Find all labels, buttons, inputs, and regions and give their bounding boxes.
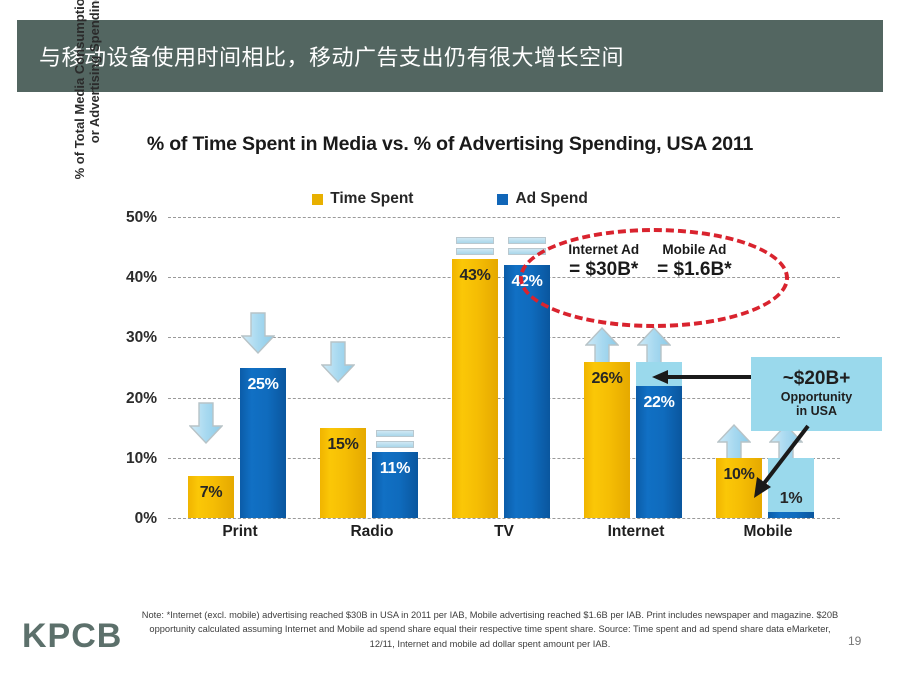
legend-item-time-spent: Time Spent <box>312 190 413 208</box>
legend-swatch-icon <box>497 194 508 205</box>
internet-ad-figure: Internet Ad = $30B* <box>568 243 639 280</box>
y-tick-label: 20% <box>126 390 157 408</box>
bar-print-time-spent: 7% <box>188 476 234 518</box>
slide: 与移动设备使用时间相比，移动广告支出仍有很大增长空间 % of Time Spe… <box>0 0 900 695</box>
y-tick-label: 50% <box>126 209 157 227</box>
bar-value-label: 15% <box>320 436 366 454</box>
bar-value-label: 43% <box>452 267 498 285</box>
mobile-ad-figure: Mobile Ad = $1.6B* <box>657 243 731 280</box>
y-axis-title: % of Total Media Consumption Time or Adv… <box>72 0 92 218</box>
y-tick-label: 40% <box>126 269 157 287</box>
down-arrow-icon <box>321 341 355 383</box>
legend-label: Time Spent <box>330 190 413 208</box>
ellipse-annotation-text: Internet Ad = $30B* Mobile Ad = $1.6B* <box>519 243 781 280</box>
internet-ad-value: = $30B* <box>568 260 639 280</box>
footnote: Note: *Internet (excl. mobile) advertisi… <box>140 608 840 651</box>
bar-value-label: 26% <box>584 370 630 388</box>
bar-value-label: 11% <box>372 460 418 478</box>
equals-marker-icon <box>376 430 414 452</box>
bar-value-label: 22% <box>636 394 682 412</box>
legend-swatch-icon <box>312 194 323 205</box>
internet-ad-label: Internet Ad <box>568 242 639 257</box>
bar-print-ad-spend: 25% <box>240 368 286 519</box>
header-banner: 与移动设备使用时间相比，移动广告支出仍有很大增长空间 <box>17 20 883 92</box>
down-arrow-icon <box>241 312 275 354</box>
chart-legend: Time Spent Ad Spend <box>0 190 900 208</box>
page-number: 19 <box>848 634 861 648</box>
mobile-ad-label: Mobile Ad <box>662 242 726 257</box>
callout-line3: in USA <box>796 404 837 418</box>
bar-mobile-ad-spend <box>768 512 814 518</box>
legend-item-ad-spend: Ad Spend <box>497 190 587 208</box>
bar-value-label: 7% <box>188 484 234 502</box>
y-axis-title-line1: % of Total Media Consumption Time <box>72 0 87 218</box>
callout-line2: Opportunity <box>781 390 853 404</box>
category-label-tv: TV <box>448 523 560 541</box>
bar-group-print: 7% 25% Print <box>184 217 296 518</box>
slide-title: 与移动设备使用时间相比，移动广告支出仍有很大增长空间 <box>17 40 624 72</box>
pointer-arrow-icon <box>650 368 754 386</box>
bar-tv-time-spent: 43% <box>452 259 498 518</box>
category-label-mobile: Mobile <box>712 523 824 541</box>
bar-radio-time-spent: 15% <box>320 428 366 518</box>
chart-title: % of Time Spent in Media vs. % of Advert… <box>0 133 900 156</box>
bar-group-radio: 15% 11% Radio <box>316 217 428 518</box>
equals-marker-icon <box>456 237 494 259</box>
legend-label: Ad Spend <box>515 190 587 208</box>
y-axis-title-line2: or Advertising Spending <box>87 0 102 218</box>
y-tick-label: 0% <box>135 510 157 528</box>
category-label-radio: Radio <box>316 523 428 541</box>
bar-internet-ad-spend: 22% <box>636 386 682 518</box>
down-arrow-icon <box>189 402 223 444</box>
gridline-0: 0% <box>168 518 840 519</box>
bar-internet-time-spent: 26% <box>584 362 630 519</box>
mobile-ad-value: = $1.6B* <box>657 260 731 280</box>
callout-amount: ~$20B+ <box>783 369 851 390</box>
diagonal-pointer-arrow-icon <box>746 424 814 506</box>
y-tick-label: 30% <box>126 329 157 347</box>
bar-radio-ad-spend: 11% <box>372 452 418 518</box>
opportunity-callout-box: ~$20B+ Opportunity in USA <box>751 357 882 431</box>
category-label-internet: Internet <box>580 523 692 541</box>
kpcb-logo: KPCB <box>22 617 122 656</box>
bar-value-label: 25% <box>240 376 286 394</box>
category-label-print: Print <box>184 523 296 541</box>
y-tick-label: 10% <box>126 450 157 468</box>
